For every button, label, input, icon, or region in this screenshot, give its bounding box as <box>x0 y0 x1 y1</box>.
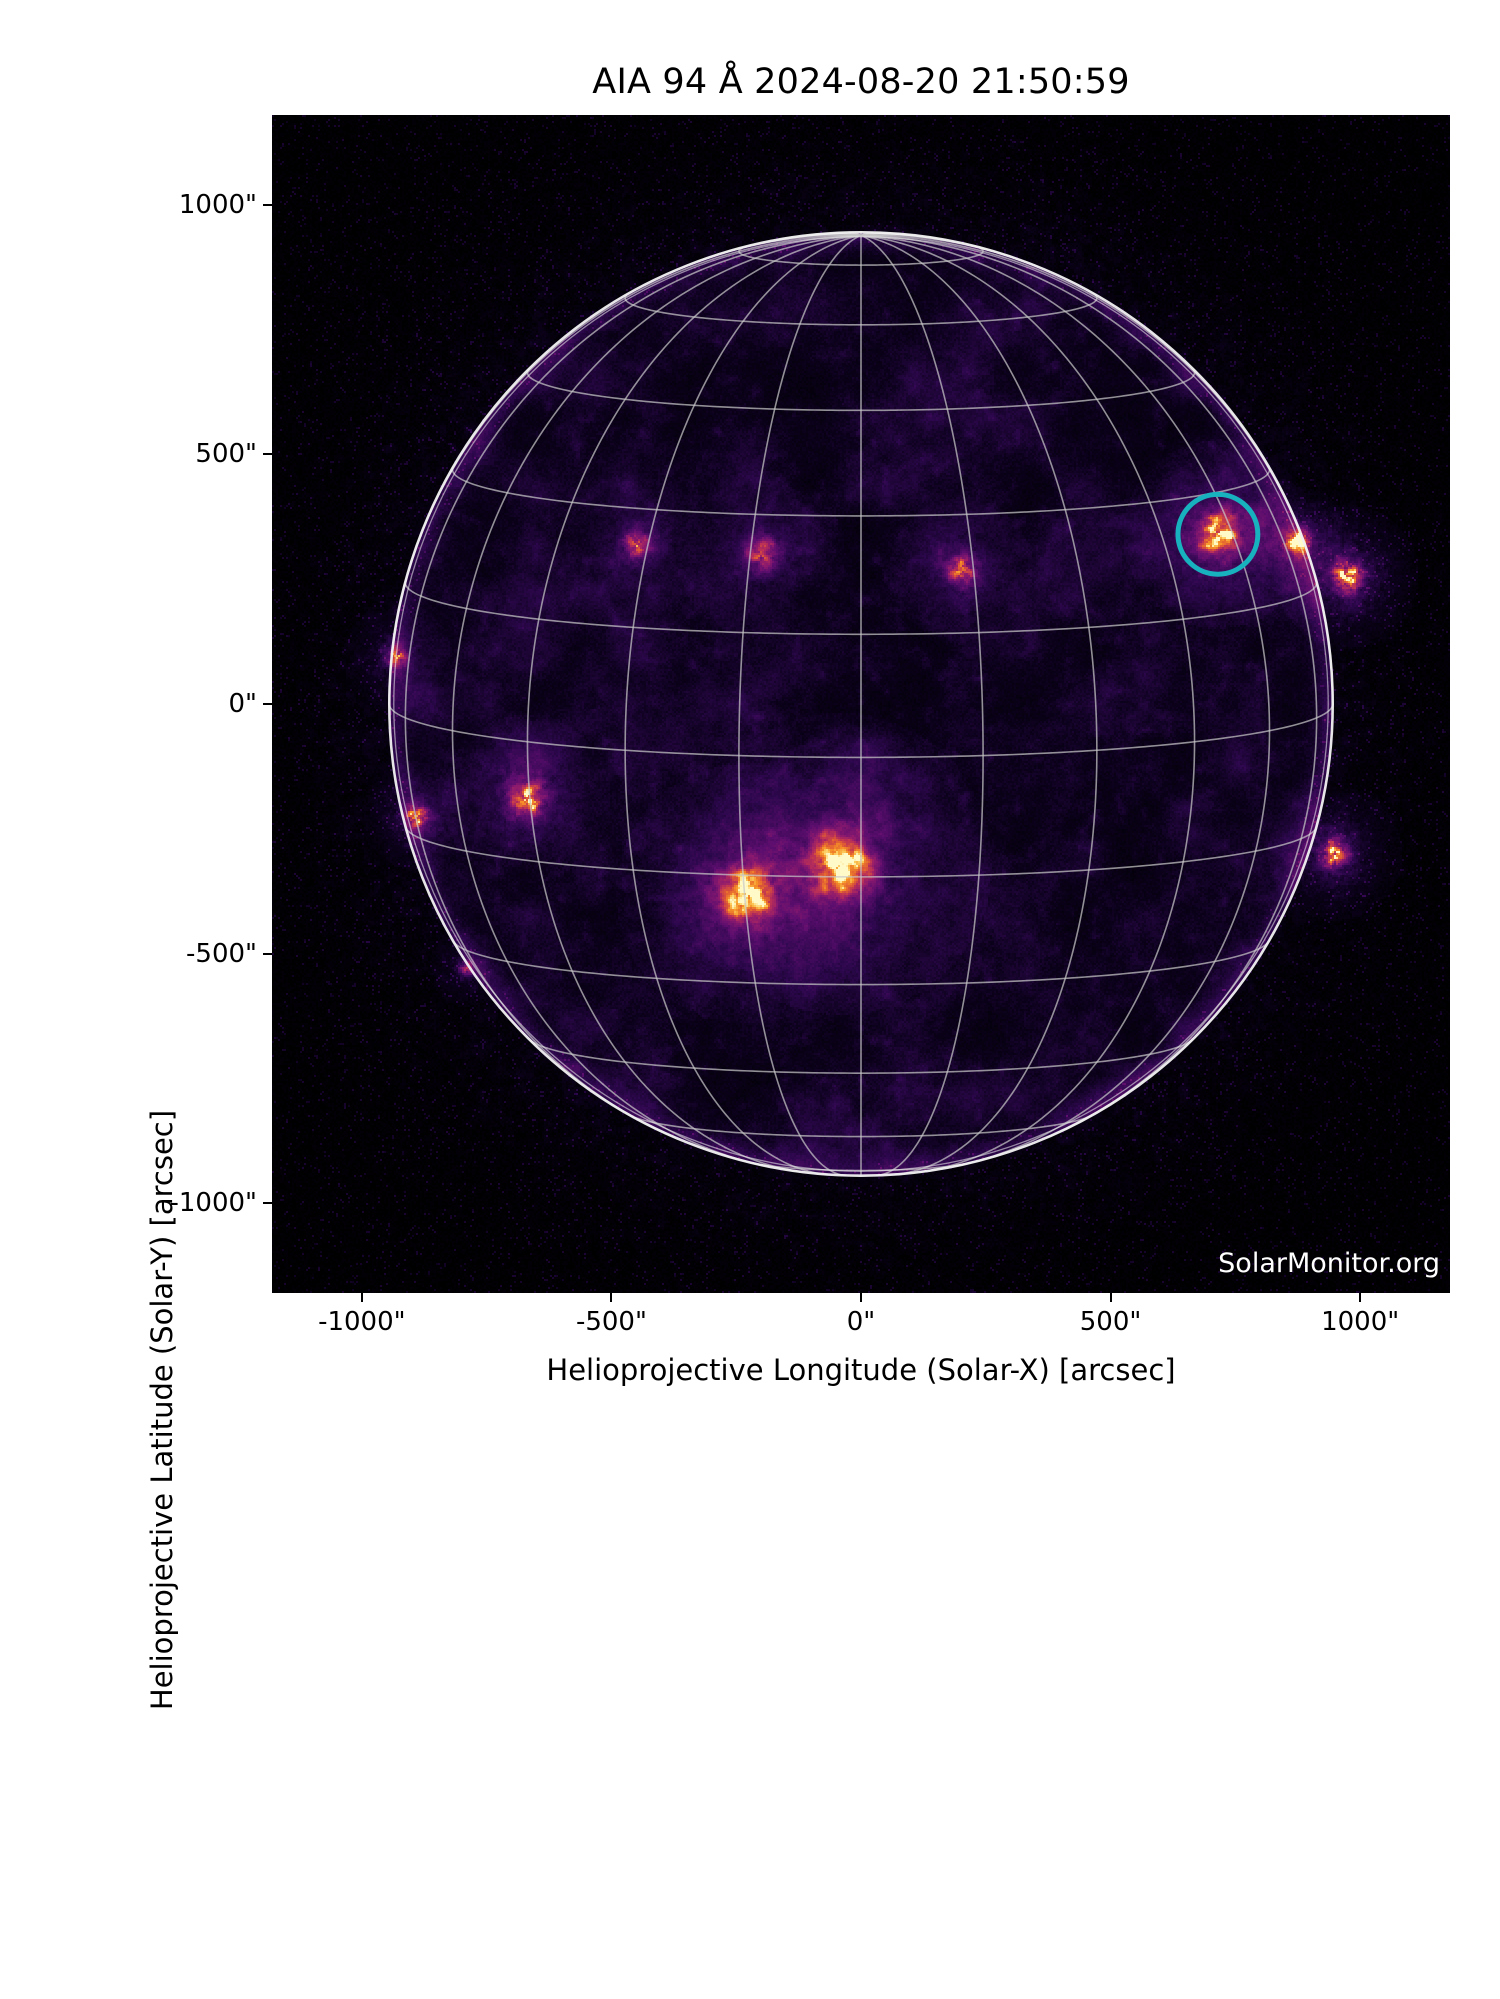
active-region-circle-annotation <box>1178 494 1258 574</box>
y-tick-label: -500" <box>117 939 257 969</box>
page-title: AIA 94 Å 2024-08-20 21:50:59 <box>272 62 1450 102</box>
y-tick-mark <box>263 204 272 206</box>
x-tick-label: -1000" <box>318 1307 406 1337</box>
solar-image-plot-area: SolarMonitor.org <box>272 115 1450 1293</box>
y-tick-mark <box>263 703 272 705</box>
grid-line <box>861 235 1195 1172</box>
y-tick-label: 1000" <box>117 190 257 220</box>
x-tick-mark <box>1110 1293 1112 1302</box>
solar-image-figure: AIA 94 Å 2024-08-20 21:50:59 SolarMonito… <box>0 0 1500 1500</box>
y-tick-label: 500" <box>117 439 257 469</box>
x-tick-label: -500" <box>576 1307 647 1337</box>
y-tick-mark <box>263 953 272 955</box>
x-tick-label: 0" <box>847 1307 876 1337</box>
annotation-layer <box>1178 494 1258 574</box>
y-tick-mark <box>263 453 272 455</box>
grid-line <box>527 235 861 1172</box>
x-axis-label: Helioprojective Longitude (Solar-X) [arc… <box>272 1353 1450 1387</box>
grid-line <box>861 235 1317 1137</box>
x-tick-mark <box>361 1293 363 1302</box>
grid-line <box>405 235 861 1137</box>
x-tick-mark <box>1359 1293 1361 1302</box>
grid-and-annotation-overlay <box>272 115 1450 1293</box>
grid-line <box>625 235 861 1174</box>
grid-line <box>861 235 1097 1174</box>
x-tick-label: 1000" <box>1321 1307 1399 1337</box>
x-tick-mark <box>610 1293 612 1302</box>
y-axis-label: Helioprojective Latitude (Solar-Y) [arcs… <box>145 821 179 1999</box>
grid-line <box>739 235 861 1175</box>
grid-line <box>453 235 862 1166</box>
solarmonitor-watermark: SolarMonitor.org <box>1218 1248 1440 1279</box>
x-tick-mark <box>860 1293 862 1302</box>
y-tick-mark <box>263 1202 272 1204</box>
x-tick-label: 500" <box>1080 1307 1142 1337</box>
y-tick-label: 0" <box>117 689 257 719</box>
grid-line <box>861 235 983 1175</box>
grid-line <box>861 235 1270 1166</box>
y-tick-label: -1000" <box>117 1188 257 1218</box>
